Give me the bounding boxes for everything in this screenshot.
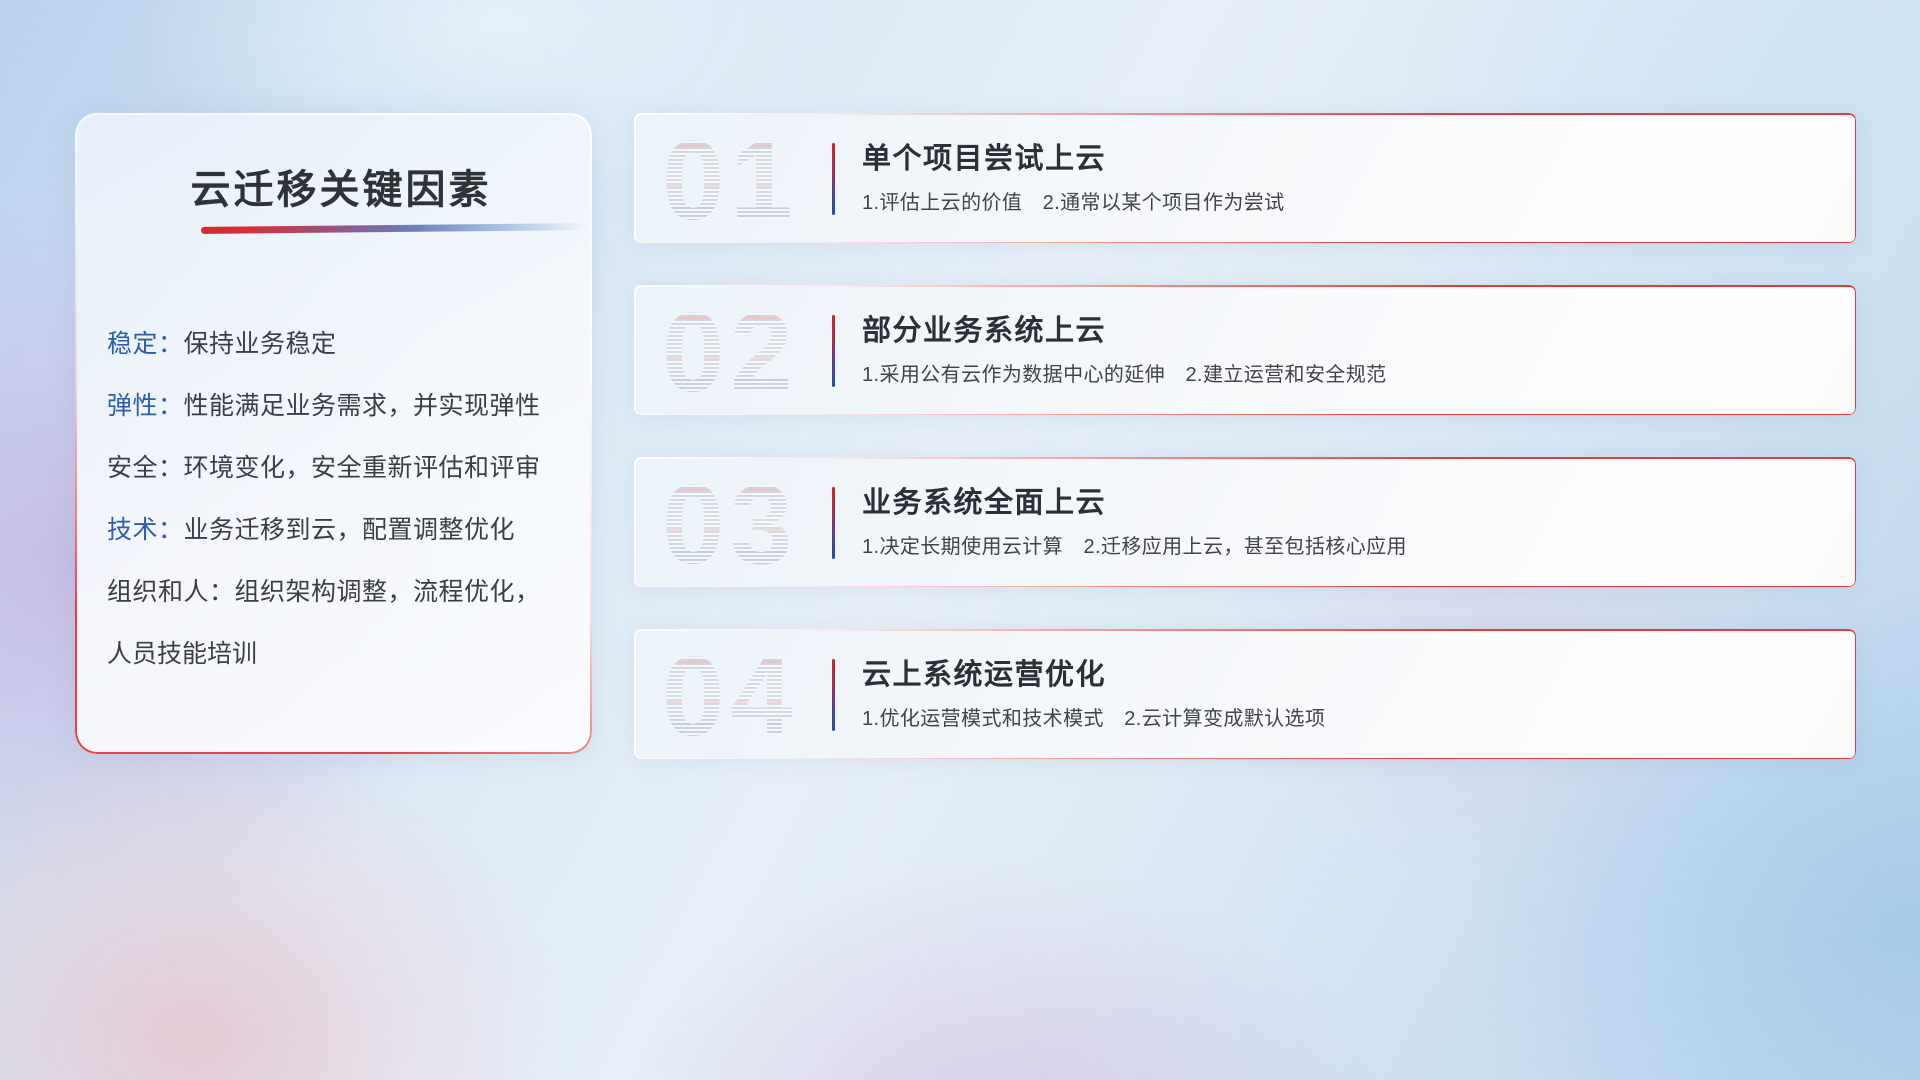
stage-card-body: 1.决定长期使用云计算 2.迁移应用上云，甚至包括核心应用 <box>862 530 1407 559</box>
factor-row: 弹性：性能满足业务需求，并实现弹性 <box>75 375 592 437</box>
slide-stage: 云迁移关键因素 稳定：保持业务稳定弹性：性能满足业务需求，并实现弹性安全：环境变… <box>0 0 1920 1080</box>
ghost-number-graphic: 02 <box>660 299 830 401</box>
factor-value: 保持业务稳定 <box>184 330 337 358</box>
factor-continuation-line: 人员技能培训 <box>75 623 592 685</box>
factor-label: 技术： <box>107 516 184 544</box>
stage-card-title: 云上系统运营优化 <box>862 651 1106 693</box>
stage-number: 0202 <box>660 299 830 401</box>
factor-label: 安全： <box>107 454 184 482</box>
stage-number: 0101 <box>660 127 830 229</box>
maturity-stage-card-list: 0101单个项目尝试上云1.评估上云的价值 2.通常以某个项目作为尝试0202部… <box>634 113 1856 759</box>
stage-card-title: 业务系统全面上云 <box>862 479 1106 521</box>
accent-divider-bar <box>832 315 835 387</box>
factor-row: 安全：环境变化，安全重新评估和评审 <box>75 437 592 499</box>
accent-divider-bar <box>832 143 835 215</box>
stage-card-01[interactable]: 0101单个项目尝试上云1.评估上云的价值 2.通常以某个项目作为尝试 <box>634 113 1856 243</box>
ghost-number-graphic: 04 <box>660 643 830 745</box>
stage-card-04[interactable]: 0404云上系统运营优化1.优化运营模式和技术模式 2.云计算变成默认选项 <box>634 629 1856 759</box>
factor-row: 组织和人：组织架构调整，流程优化， <box>75 561 592 623</box>
accent-divider-bar <box>832 659 835 731</box>
factor-row: 稳定：保持业务稳定 <box>75 313 592 375</box>
stage-card-title: 单个项目尝试上云 <box>862 135 1106 177</box>
factor-list: 稳定：保持业务稳定弹性：性能满足业务需求，并实现弹性安全：环境变化，安全重新评估… <box>75 313 592 685</box>
factor-label: 弹性： <box>107 392 184 420</box>
stage-card-03[interactable]: 0303业务系统全面上云1.决定长期使用云计算 2.迁移应用上云，甚至包括核心应… <box>634 457 1856 587</box>
stage-card-title: 部分业务系统上云 <box>862 307 1106 349</box>
stage-number: 0303 <box>660 471 830 573</box>
factor-value: 业务迁移到云，配置调整优化 <box>184 516 516 544</box>
stage-card-body: 1.优化运营模式和技术模式 2.云计算变成默认选项 <box>862 702 1325 731</box>
factor-label: 组织和人： <box>107 578 235 606</box>
ghost-number-graphic: 03 <box>660 471 830 573</box>
factor-value: 组织架构调整，流程优化， <box>235 578 541 606</box>
factor-value: 性能满足业务需求，并实现弹性 <box>184 392 541 420</box>
factor-value: 环境变化，安全重新评估和评审 <box>184 454 541 482</box>
factor-row: 技术：业务迁移到云，配置调整优化 <box>75 499 592 561</box>
ghost-number-graphic: 01 <box>660 127 830 229</box>
stage-card-body: 1.评估上云的价值 2.通常以某个项目作为尝试 <box>862 186 1285 215</box>
title-underline-gradient <box>201 223 587 234</box>
factor-label: 稳定： <box>107 330 184 358</box>
page-title: 云迁移关键因素 <box>131 157 551 215</box>
stage-card-body: 1.采用公有云作为数据中心的延伸 2.建立运营和安全规范 <box>862 358 1387 387</box>
stage-number: 0404 <box>660 643 830 745</box>
accent-divider-bar <box>832 487 835 559</box>
stage-card-02[interactable]: 0202部分业务系统上云1.采用公有云作为数据中心的延伸 2.建立运营和安全规范 <box>634 285 1856 415</box>
key-factors-panel: 云迁移关键因素 稳定：保持业务稳定弹性：性能满足业务需求，并实现弹性安全：环境变… <box>75 113 592 754</box>
